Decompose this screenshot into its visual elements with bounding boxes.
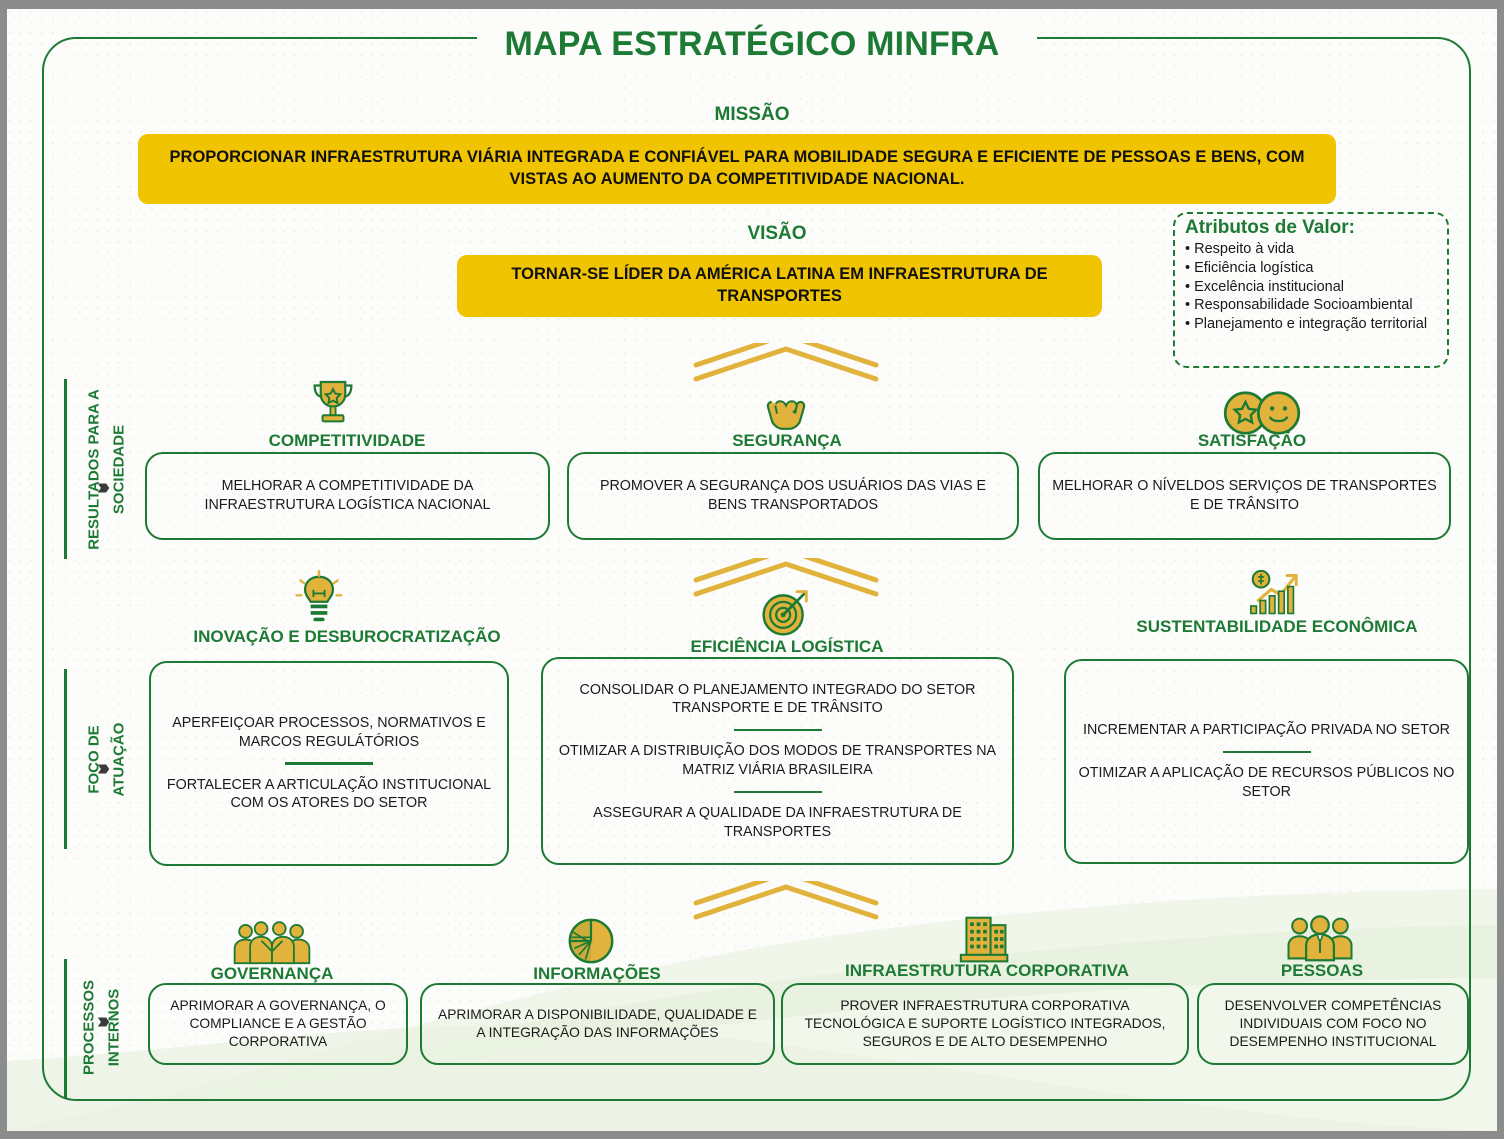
pie-chart-icon bbox=[567, 917, 615, 965]
rail-divider-processes bbox=[64, 959, 67, 1099]
rail-label-results-line1: RESULTADOS PARA A bbox=[86, 380, 103, 560]
objective-box-pessoas: DESENVOLVER COMPETÊNCIAS INDIVIDUAIS COM… bbox=[1197, 983, 1469, 1065]
objective-text: MELHORAR A COMPETITIVIDADE DA INFRAESTRU… bbox=[157, 477, 538, 514]
value-attributes-list: • Respeito à vida • Eficiência logística… bbox=[1185, 240, 1439, 334]
objective-box-sustentabilidade: INCREMENTAR A PARTICIPAÇÃO PRIVADA NO SE… bbox=[1064, 659, 1469, 864]
chevron-up-icon-row3 bbox=[691, 881, 881, 923]
objective-text: FORTALECER A ARTICULAÇÃO INSTITUCIONAL C… bbox=[161, 776, 497, 813]
list-item: • Responsabilidade Socioambiental bbox=[1185, 296, 1439, 315]
list-item: • Excelência institucional bbox=[1185, 278, 1439, 297]
objective-text: INCREMENTAR A PARTICIPAÇÃO PRIVADA NO SE… bbox=[1083, 721, 1450, 740]
trophy-icon bbox=[305, 375, 361, 431]
objective-separator bbox=[734, 729, 822, 732]
objective-text: APERFEIÇOAR PROCESSOS, NORMATIVOS E MARC… bbox=[161, 714, 497, 751]
list-item: • Eficiência logística bbox=[1185, 259, 1439, 278]
objective-separator bbox=[1223, 751, 1311, 754]
objective-text: ASSEGURAR A QUALIDADE DA INFRAESTRUTURA … bbox=[553, 804, 1002, 841]
pillar-title-eficiencia: EFICIÊNCIA LOGÍSTICA bbox=[567, 637, 1007, 656]
rail-marker-focus: ››› bbox=[97, 756, 105, 779]
objective-text: MELHORAR O NÍVELDOS SERVIÇOS DE TRANSPOR… bbox=[1050, 477, 1439, 514]
buildings-icon bbox=[957, 914, 1013, 966]
mission-statement-box: PROPORCIONAR INFRAESTRUTURA VIÁRIA INTEG… bbox=[138, 134, 1336, 204]
rail-divider-results bbox=[64, 379, 67, 559]
objective-box-competitividade: MELHORAR A COMPETITIVIDADE DA INFRAESTRU… bbox=[145, 452, 550, 540]
rail-marker-results: ››› bbox=[97, 475, 105, 498]
objective-box-inovacao: APERFEIÇOAR PROCESSOS, NORMATIVOS E MARC… bbox=[149, 661, 509, 866]
money-growth-chart-icon bbox=[1247, 569, 1301, 619]
pillar-title-infra-corporativa: INFRAESTRUTURA CORPORATIVA bbox=[797, 961, 1177, 980]
mission-label: MISSÃO bbox=[7, 104, 1497, 126]
pillar-title-inovacao: INOVAÇÃO E DESBUROCRATIZAÇÃO bbox=[147, 627, 547, 646]
pillar-title-pessoas: PESSOAS bbox=[1197, 961, 1447, 980]
rail-label-focus-line2: ATUAÇÃO bbox=[111, 670, 128, 850]
hands-heart-icon bbox=[757, 384, 815, 436]
objective-text: APRIMORAR A GOVERNANÇA, O COMPLIANCE E A… bbox=[160, 997, 396, 1051]
objective-box-infra-corporativa: PROVER INFRAESTRUTURA CORPORATIVA TECNOL… bbox=[781, 983, 1189, 1065]
pillar-title-sustentabilidade: SUSTENTABILIDADE ECONÔMICA bbox=[1077, 617, 1477, 636]
objective-box-seguranca: PROMOVER A SEGURANÇA DOS USUÁRIOS DAS VI… bbox=[567, 452, 1019, 540]
team-people-icon bbox=[1285, 914, 1355, 964]
objective-text: APRIMORAR A DISPONIBILIDADE, QUALIDADE E… bbox=[432, 1006, 763, 1042]
objective-text: PROMOVER A SEGURANÇA DOS USUÁRIOS DAS VI… bbox=[579, 477, 1007, 514]
pillar-title-satisfacao: SATISFAÇÃO bbox=[1037, 431, 1467, 450]
objective-text: PROVER INFRAESTRUTURA CORPORATIVA TECNOL… bbox=[793, 997, 1177, 1051]
list-item: • Planejamento e integração territorial bbox=[1185, 315, 1439, 334]
list-item: • Respeito à vida bbox=[1185, 240, 1439, 259]
pillar-title-text: INOVAÇÃO E DESBUROCRATIZAÇÃO bbox=[193, 627, 500, 646]
objective-text: OTIMIZAR A DISTRIBUIÇÃO DOS MODOS DE TRA… bbox=[553, 742, 1002, 779]
rail-divider-focus bbox=[64, 669, 67, 849]
lightbulb-icon bbox=[293, 569, 345, 629]
objective-text: DESENVOLVER COMPETÊNCIAS INDIVIDUAIS COM… bbox=[1209, 997, 1457, 1051]
strategic-map-canvas: MAPA ESTRATÉGICO MINFRA MISSÃO PROPORCIO… bbox=[7, 9, 1497, 1131]
chevron-up-icon-row1 bbox=[691, 343, 881, 385]
value-attributes-title: Atributos de Valor: bbox=[1185, 218, 1439, 239]
objective-box-eficiencia: CONSOLIDAR O PLANEJAMENTO INTEGRADO DO S… bbox=[541, 657, 1014, 865]
pillar-title-competitividade: COMPETITIVIDADE bbox=[147, 431, 547, 450]
objective-separator bbox=[734, 791, 822, 794]
objective-box-informacoes: APRIMORAR A DISPONIBILIDADE, QUALIDADE E… bbox=[420, 983, 775, 1065]
vision-statement-box: TORNAR-SE LÍDER DA AMÉRICA LATINA EM INF… bbox=[457, 255, 1102, 317]
objective-box-satisfacao: MELHORAR O NÍVELDOS SERVIÇOS DE TRANSPOR… bbox=[1038, 452, 1451, 540]
people-group-icon bbox=[231, 921, 313, 969]
objective-text: OTIMIZAR A APLICAÇÃO DE RECURSOS PÚBLICO… bbox=[1076, 764, 1457, 801]
rail-marker-processes: ››› bbox=[97, 1009, 105, 1032]
objective-box-governanca: APRIMORAR A GOVERNANÇA, O COMPLIANCE E A… bbox=[148, 983, 408, 1065]
value-attributes-box: Atributos de Valor: • Respeito à vida • … bbox=[1173, 212, 1449, 368]
objective-text: CONSOLIDAR O PLANEJAMENTO INTEGRADO DO S… bbox=[553, 681, 1002, 718]
target-arrow-icon bbox=[759, 587, 811, 639]
pillar-title-seguranca: SEGURANÇA bbox=[567, 431, 1007, 450]
rail-label-processes-line1: PROCESSOS bbox=[81, 938, 98, 1118]
vision-label: VISÃO bbox=[447, 223, 1107, 245]
pillar-title-informacoes: INFORMAÇÕES bbox=[477, 964, 717, 983]
rail-label-processes-line2: INTERNOS bbox=[106, 938, 123, 1118]
objective-separator bbox=[285, 762, 373, 765]
pillar-title-governanca: GOVERNANÇA bbox=[152, 964, 392, 983]
rail-label-results-line2: SOCIEDADE bbox=[111, 380, 128, 560]
